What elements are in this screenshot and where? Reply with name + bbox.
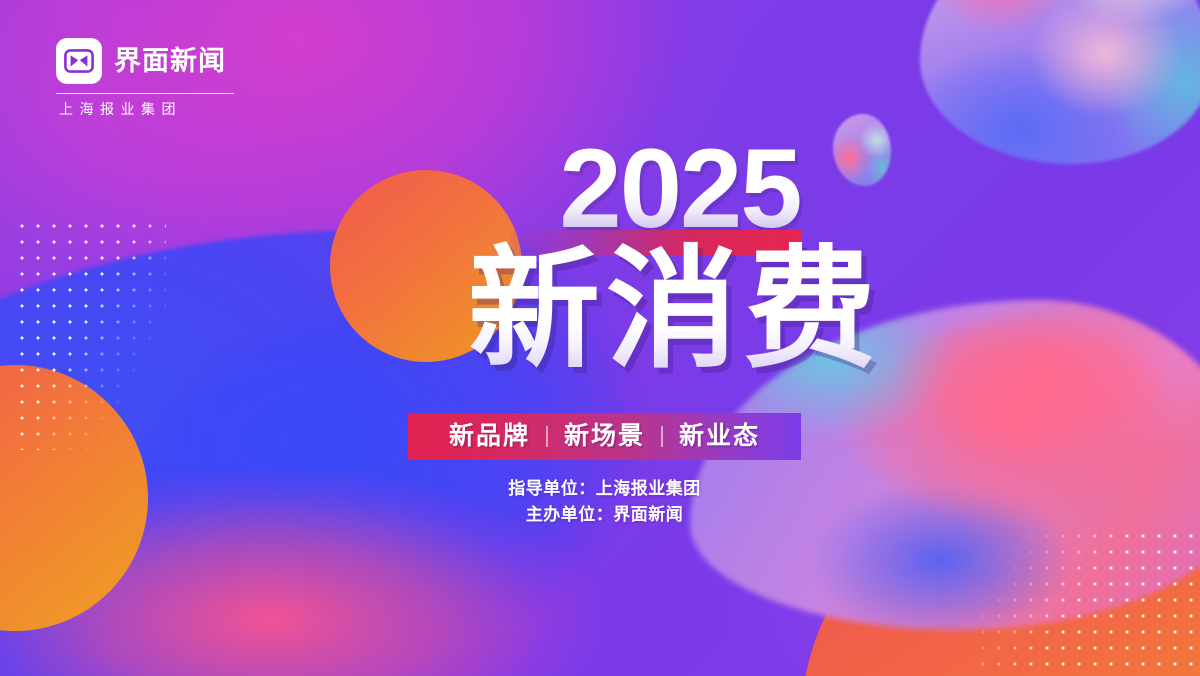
subtitle-item-1: 新品牌 (449, 424, 530, 449)
credit-line-organizer: 主办单位：界面新闻 (408, 502, 801, 528)
main-title: 新消费 (0, 232, 1200, 388)
subtitle-item-3: 新业态 (679, 424, 760, 449)
year-text: 2025 (0, 133, 1200, 245)
subtitle-separator-1 (546, 426, 548, 447)
credits-block: 指导单位：上海报业集团 主办单位：界面新闻 (408, 476, 801, 528)
subtitle-item-2: 新场景 (564, 424, 645, 449)
subtitle-separator-2 (661, 426, 663, 447)
credit-line-guidance: 指导单位：上海报业集团 (408, 476, 801, 502)
subtitle-bar: 新品牌 新场景 新业态 (408, 413, 801, 460)
poster-canvas: 界面新闻 上海报业集团 2025 新消费 新品牌 新场景 新业态 指导单位：上海… (0, 0, 1200, 676)
headline-group: 2025 新消费 新品牌 新场景 新业态 指导单位：上海报业集团 主办单位：界面… (0, 0, 1200, 676)
